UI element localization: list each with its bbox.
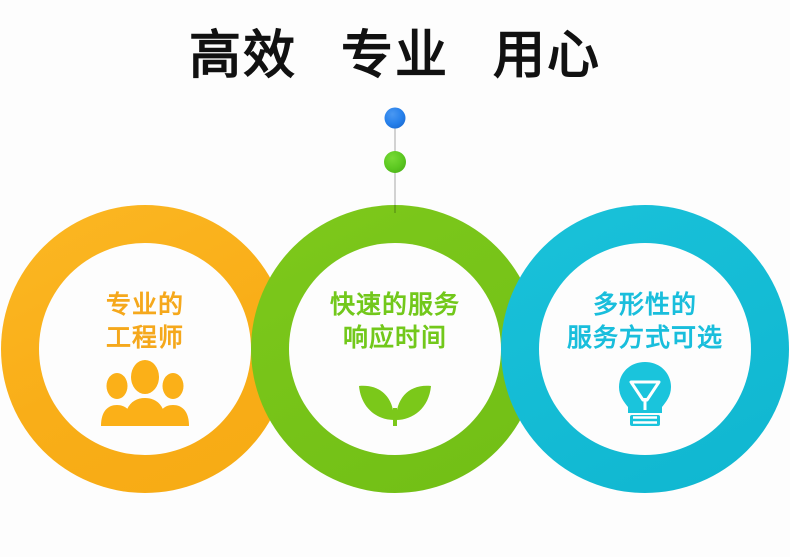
circle-engineers-label: 专业的 工程师 [106, 289, 184, 354]
circle-response-time[interactable]: 快速的服务 响应时间 [289, 243, 501, 455]
circle-response-time-line2: 响应时间 [330, 322, 460, 355]
circle-engineers-line1: 专业的 [106, 291, 184, 319]
circle-engineers[interactable]: 专业的 工程师 [39, 243, 251, 455]
circle-response-time-line1: 快速的服务 [330, 291, 460, 319]
sprout-icon [347, 360, 443, 426]
circle-engineers-line2: 工程师 [106, 322, 184, 355]
circle-service-modes[interactable]: 多形性的 服务方式可选 [539, 243, 751, 455]
circle-service-modes-line1: 多形性的 [593, 291, 697, 319]
poster-canvas: 高效专业用心 [0, 0, 790, 557]
lightbulb-icon [597, 360, 693, 426]
circle-response-time-label: 快速的服务 响应时间 [330, 289, 460, 354]
people-icon [97, 360, 193, 426]
circle-service-modes-label: 多形性的 服务方式可选 [567, 289, 723, 354]
circle-service-modes-line2: 服务方式可选 [567, 322, 723, 355]
